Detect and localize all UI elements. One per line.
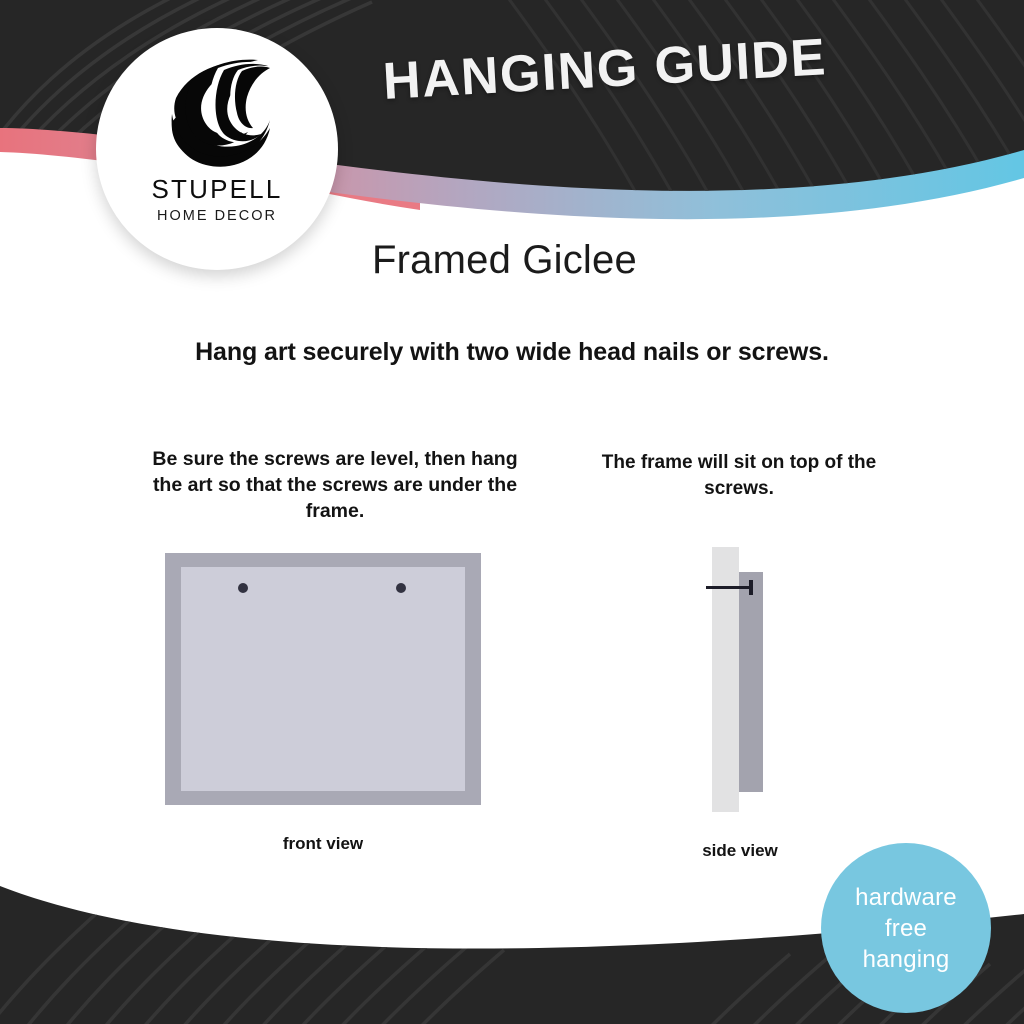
left-instruction-text: Be sure the screws are level, then hang … [140, 446, 530, 524]
lead-instruction: Hang art securely with two wide head nai… [0, 338, 1024, 367]
badge-line-1: hardware [855, 882, 957, 913]
brand-tagline: HOME DECOR [157, 209, 277, 224]
front-view-mat [181, 567, 465, 791]
side-view-caption: side view [640, 841, 840, 861]
hardware-free-badge: hardware free hanging [821, 843, 991, 1013]
side-view-nail-head [749, 580, 753, 595]
hanging-guide-page: STUPELL HOME DECOR HANGING GUIDE Framed … [0, 0, 1024, 1024]
page-title: HANGING GUIDE [381, 27, 828, 112]
front-view-frame [165, 553, 481, 805]
product-title: Framed Giclee [372, 238, 637, 283]
right-instruction-text: The frame will sit on top of the screws. [574, 450, 904, 502]
side-view-nail-shaft [706, 586, 753, 589]
badge-line-3: hanging [863, 944, 950, 975]
brand-name: STUPELL [151, 176, 282, 202]
brand-logo-badge: STUPELL HOME DECOR [96, 28, 338, 270]
screw-dot-right [396, 583, 406, 593]
front-view-caption: front view [165, 834, 481, 854]
side-view-frame [739, 572, 763, 792]
stupell-swoosh-icon [158, 58, 276, 170]
screw-dot-left [238, 583, 248, 593]
badge-line-2: free [885, 913, 927, 944]
